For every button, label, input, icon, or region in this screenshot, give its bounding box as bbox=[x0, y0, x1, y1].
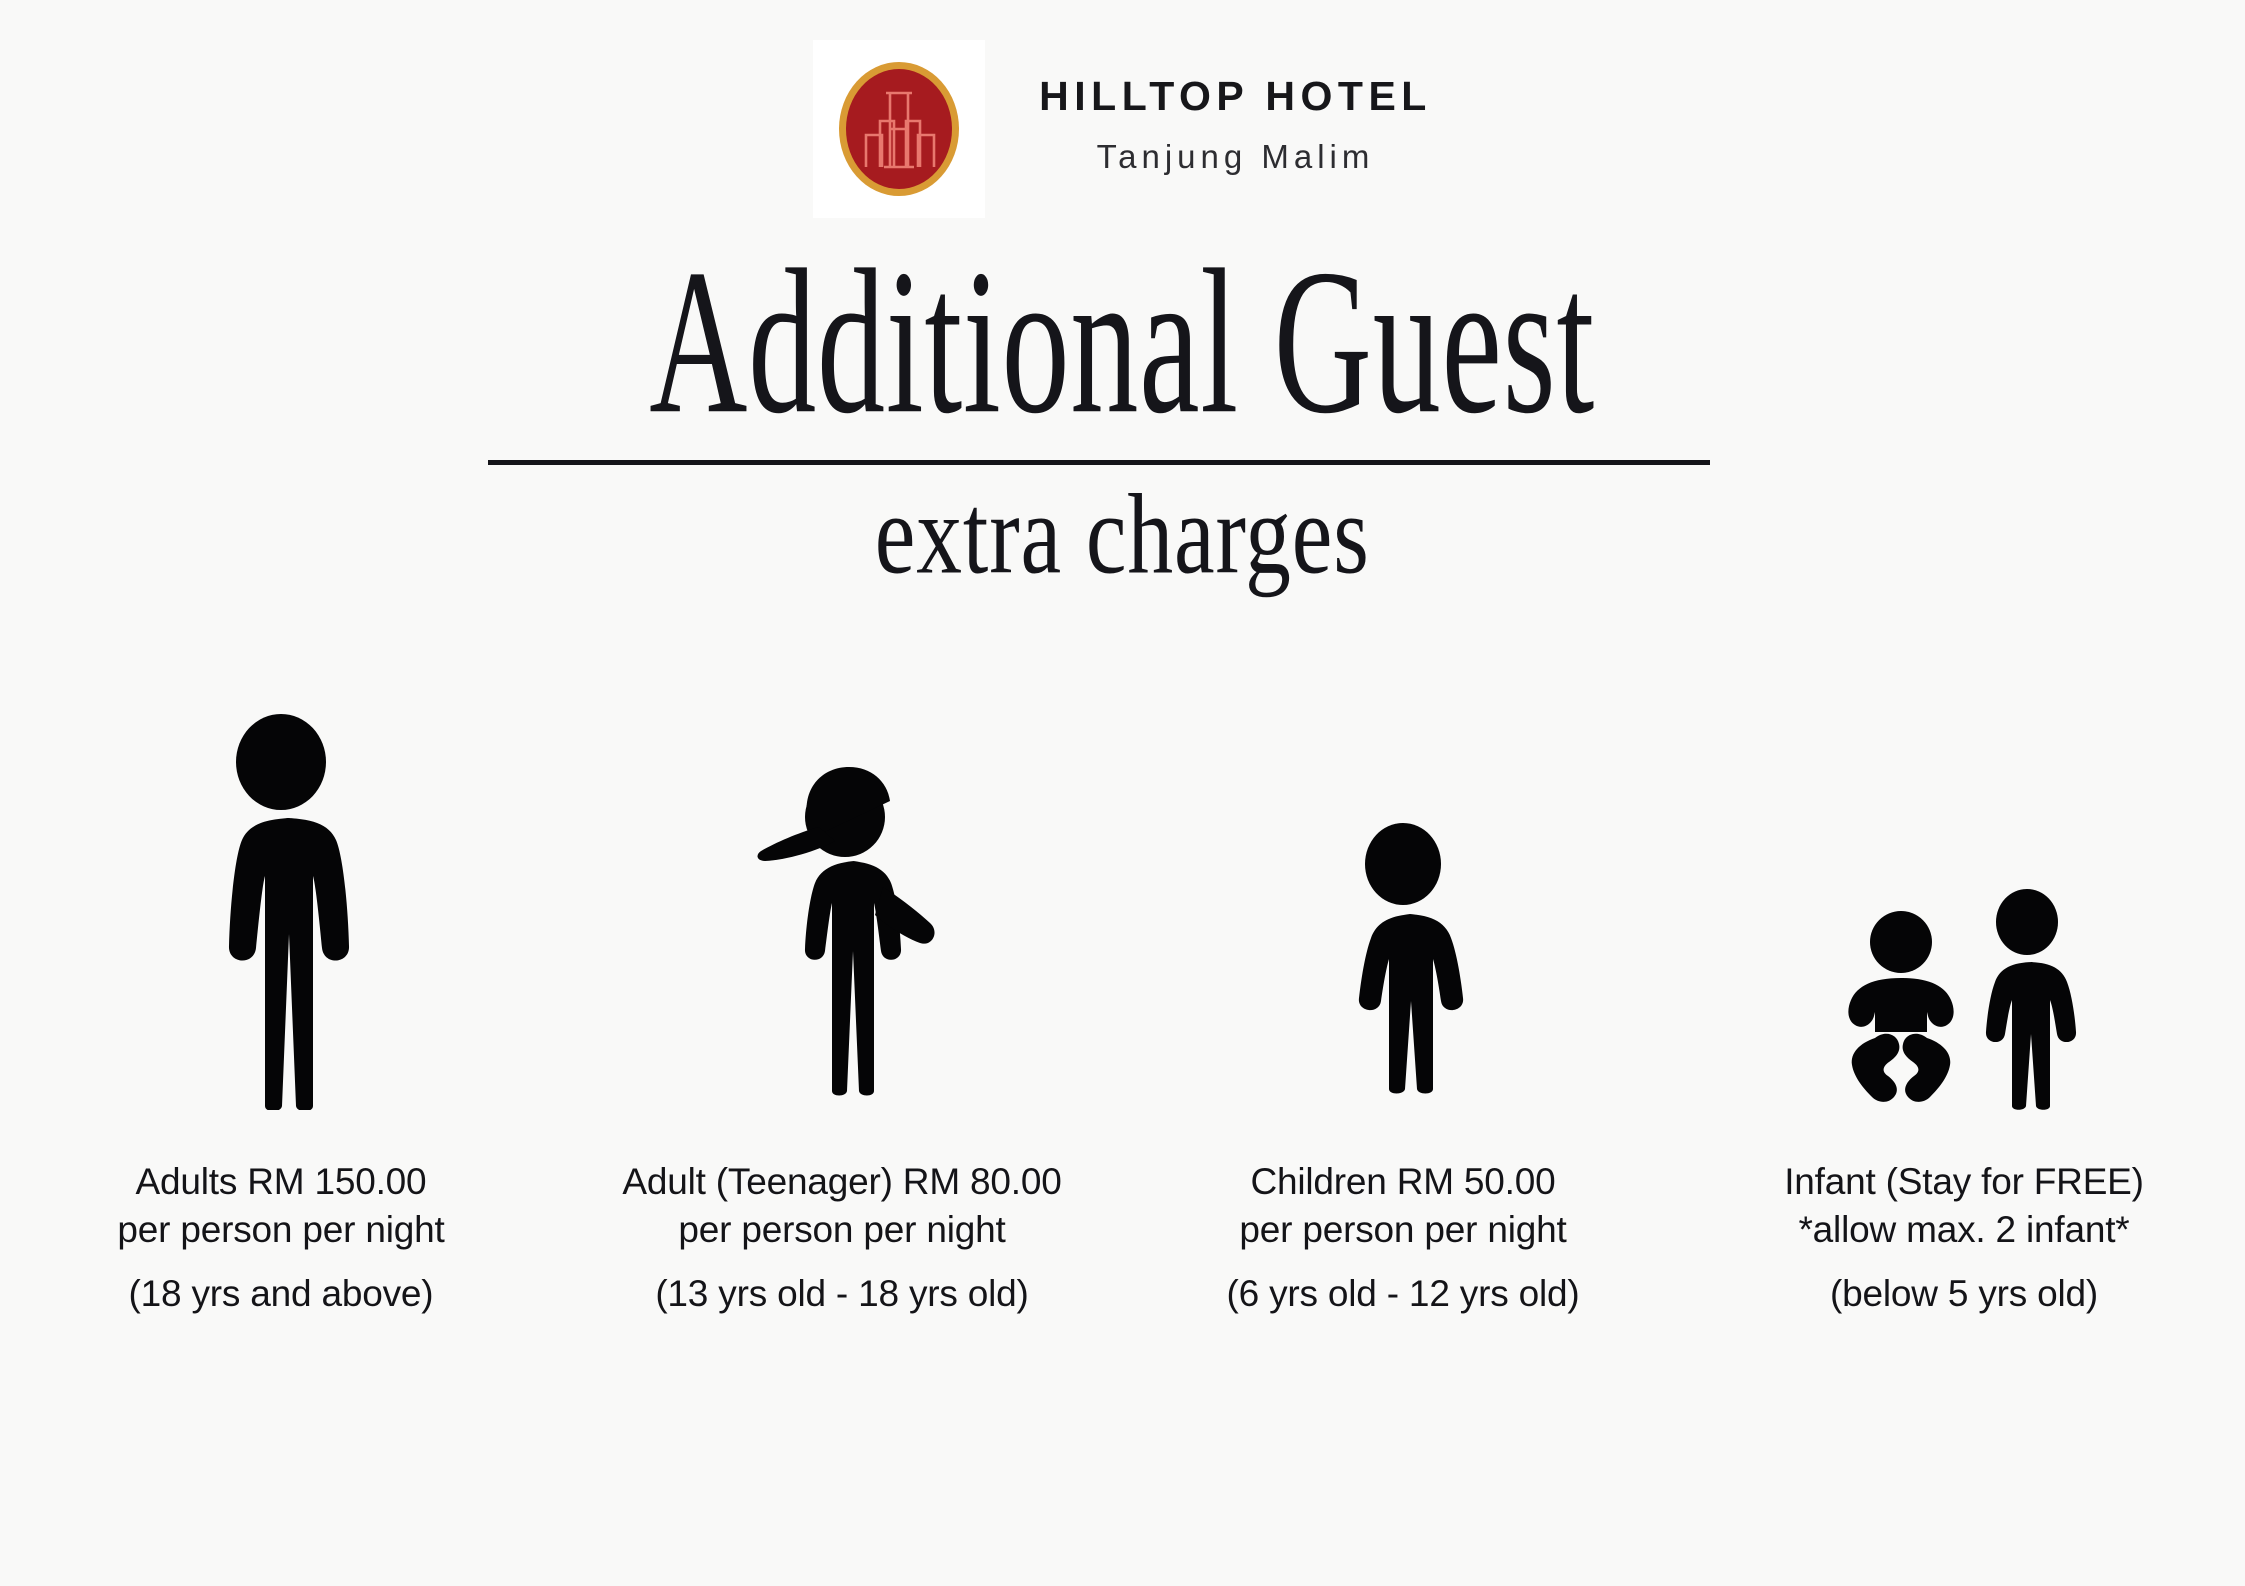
infant-line-1: Infant (Stay for FREE) bbox=[1784, 1161, 2144, 1202]
hotel-name: HILLTOP HOTEL bbox=[1039, 71, 1432, 122]
tier-children: Children RM 50.00 per person per night (… bbox=[1123, 660, 1684, 1318]
logo-box bbox=[813, 40, 985, 218]
subheadline-container: extra charges bbox=[0, 478, 2245, 582]
infant-line-3: (below 5 yrs old) bbox=[1784, 1270, 2144, 1318]
teenager-with-cap-figure-icon bbox=[737, 765, 947, 1110]
children-line-3: (6 yrs old - 12 yrs old) bbox=[1227, 1270, 1580, 1318]
hotel-location: Tanjung Malim bbox=[1097, 132, 1375, 182]
tier-adults: Adults RM 150.00 per person per night (1… bbox=[1, 660, 562, 1318]
children-line-2: per person per night bbox=[1239, 1209, 1566, 1250]
adults-line-3: (18 yrs and above) bbox=[117, 1270, 444, 1318]
page-subtitle: extra charges bbox=[875, 478, 1370, 592]
tier-infant: Infant (Stay for FREE) *allow max. 2 inf… bbox=[1684, 660, 2245, 1318]
infant-line-2: *allow max. 2 infant* bbox=[1798, 1209, 2129, 1250]
children-figure bbox=[1303, 660, 1503, 1110]
teenager-caption: Adult (Teenager) RM 80.00 per person per… bbox=[622, 1158, 1061, 1318]
teenager-line-2: per person per night bbox=[678, 1209, 1005, 1250]
infant-figure bbox=[1819, 660, 2109, 1110]
adults-figure bbox=[181, 660, 381, 1110]
hilltop-hotel-emblem-icon bbox=[824, 49, 974, 209]
teenager-line-3: (13 yrs old - 18 yrs old) bbox=[622, 1270, 1061, 1318]
teenager-figure bbox=[737, 660, 947, 1110]
guest-tier-row: Adults RM 150.00 per person per night (1… bbox=[0, 660, 2245, 1318]
adults-line-2: per person per night bbox=[117, 1209, 444, 1250]
headline-container: Additional Guest bbox=[0, 238, 2245, 408]
child-standing-figure-icon bbox=[1303, 820, 1503, 1110]
additional-guest-poster: HILLTOP HOTEL Tanjung Malim Additional G… bbox=[0, 0, 2245, 1586]
infant-and-toddler-figure-icon bbox=[1819, 880, 2109, 1110]
page-title: Additional Guest bbox=[650, 238, 1596, 445]
adults-line-1: Adults RM 150.00 bbox=[136, 1161, 427, 1202]
brand-text: HILLTOP HOTEL Tanjung Malim bbox=[1039, 71, 1432, 188]
infant-caption: Infant (Stay for FREE) *allow max. 2 inf… bbox=[1784, 1158, 2144, 1318]
adults-caption: Adults RM 150.00 per person per night (1… bbox=[117, 1158, 444, 1318]
title-divider bbox=[488, 460, 1710, 465]
brand-header: HILLTOP HOTEL Tanjung Malim bbox=[0, 40, 2245, 218]
tier-teenager: Adult (Teenager) RM 80.00 per person per… bbox=[562, 660, 1123, 1318]
teenager-line-1: Adult (Teenager) RM 80.00 bbox=[622, 1161, 1061, 1202]
children-line-1: Children RM 50.00 bbox=[1250, 1161, 1555, 1202]
children-caption: Children RM 50.00 per person per night (… bbox=[1227, 1158, 1580, 1318]
adult-standing-figure-icon bbox=[181, 710, 381, 1110]
